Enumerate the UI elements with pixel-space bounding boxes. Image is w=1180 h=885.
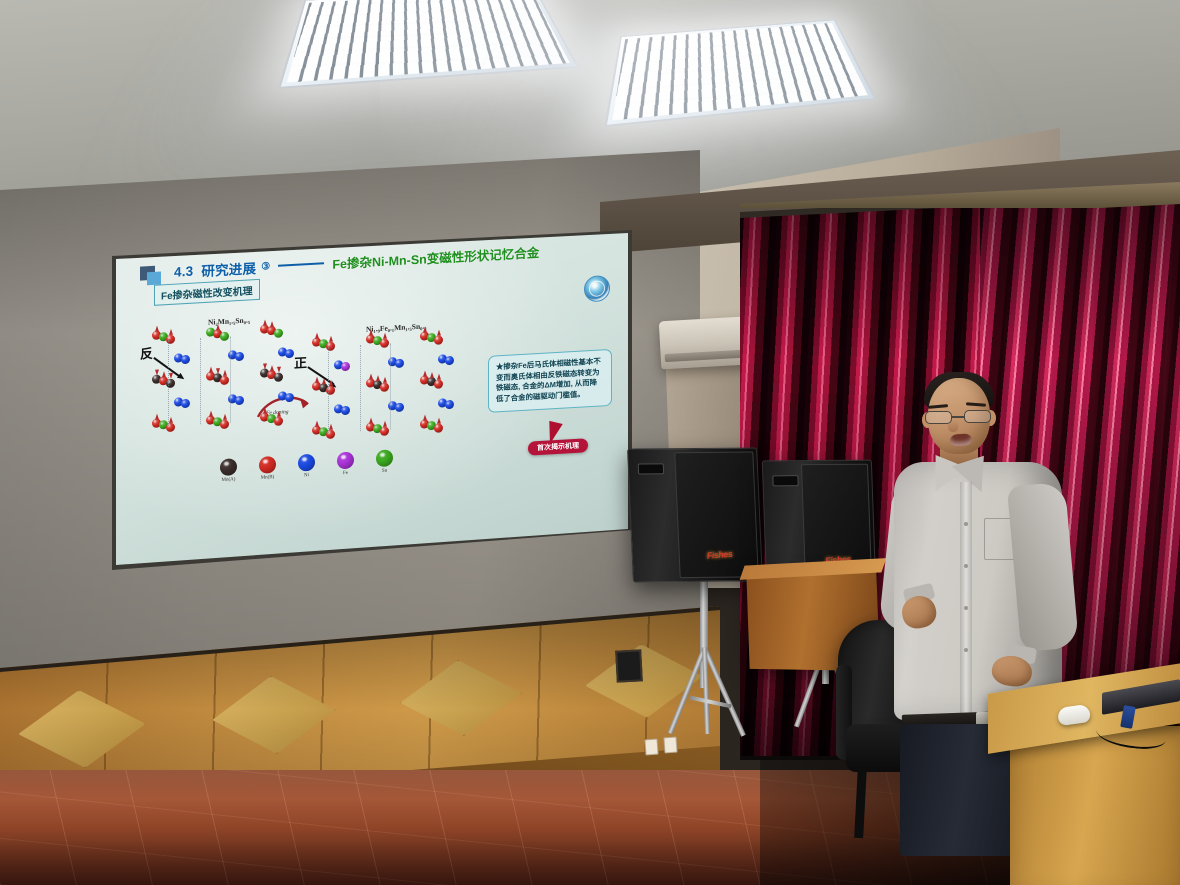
projection-screen[interactable]: 4.3 研究进展 ③ Fe掺杂Ni-Mn-Sn变磁性形状记忆合金 Fe掺杂磁性改… (116, 233, 628, 565)
atom-sphere (434, 335, 443, 345)
spin-up-arrow-icon (383, 421, 387, 427)
antiferro-arrow-head (177, 373, 186, 382)
atom-sphere (220, 375, 229, 385)
lattice-guide-line (168, 340, 169, 426)
atom-sphere (434, 379, 443, 389)
spin-up-arrow-icon (423, 370, 427, 376)
spin-down-arrow-icon (216, 368, 220, 374)
legend-atom-label: Sn (382, 469, 387, 474)
legend-atom-label: Mn(B) (261, 475, 275, 481)
shirt-button (964, 606, 968, 610)
atom-sphere (434, 423, 443, 433)
atom-sphere (220, 419, 229, 429)
wall-outlet (644, 739, 658, 756)
slide-section-number: 4.3 (174, 263, 193, 279)
legend-atom-sphere (220, 458, 237, 476)
lattice-guide-line (328, 347, 329, 433)
spin-up-arrow-icon (369, 373, 373, 379)
spin-up-arrow-icon (315, 420, 319, 426)
spin-up-arrow-icon (209, 410, 213, 416)
legend-atom-sphere (376, 449, 393, 467)
formula-left: Ni₂Mn₁.₅Sn₀.₅ (208, 315, 250, 326)
slide-explanation-box: ★掺杂Fe后马氏体相磁性基本不变而奥氏体相由反铁磁态转变为铁磁态, 合金的ΔM增… (488, 349, 612, 413)
legend-item: Sn (376, 449, 393, 474)
atom-legend: Mn(A)Mn(B)NiFeSn (220, 449, 393, 483)
slide-section-title: 研究进展 (201, 257, 256, 280)
lattice-guide-line (230, 336, 231, 422)
presenter-glasses-icon (924, 410, 996, 424)
spin-up-arrow-icon (369, 417, 373, 423)
spin-up-arrow-icon (437, 330, 441, 336)
atom-sphere (380, 426, 389, 436)
formula-right: Ni₁.₉Fe₀.₁Mn₁.₅Sn₀.₅ (366, 321, 427, 333)
spin-up-arrow-icon (423, 414, 427, 420)
spin-up-arrow-icon (369, 329, 373, 335)
shirt-button (964, 522, 968, 526)
speaker-handle (772, 475, 798, 486)
atom-sphere (445, 400, 454, 410)
spin-up-arrow-icon (277, 411, 281, 417)
speaker-handle (638, 463, 664, 474)
title-divider (278, 262, 324, 267)
atom-sphere (341, 362, 350, 372)
atom-sphere (285, 349, 294, 359)
pa-speaker-left: Fishes (627, 447, 763, 582)
conference-room-photo: 4.3 研究进展 ③ Fe掺杂Ni-Mn-Sn变磁性形状记忆合金 Fe掺杂磁性改… (0, 0, 1180, 885)
legend-item: Fe (337, 451, 354, 476)
glasses-bridge (952, 416, 964, 418)
spin-up-arrow-icon (430, 372, 434, 378)
antiferro-label: 反 (140, 343, 153, 363)
atom-sphere (380, 382, 389, 392)
legend-item: Mn(B) (259, 456, 276, 481)
spin-up-arrow-icon (423, 326, 427, 332)
atom-sphere (274, 372, 283, 382)
spin-up-arrow-icon (155, 325, 159, 331)
title-square-icon (140, 266, 155, 281)
atom-sphere (181, 399, 190, 409)
spin-up-arrow-icon (270, 321, 274, 327)
legend-atom-label: Ni (304, 473, 309, 478)
atom-sphere (235, 396, 244, 406)
spin-up-arrow-icon (263, 407, 267, 413)
legend-item: Ni (298, 454, 315, 479)
lattice-guide-line (390, 343, 391, 429)
spin-up-arrow-icon (169, 329, 173, 335)
spin-up-arrow-icon (223, 414, 227, 420)
legend-atom-sphere (259, 456, 276, 474)
atom-sphere (395, 403, 404, 413)
spin-up-arrow-icon (383, 377, 387, 383)
slide-section-marker: ③ (261, 261, 270, 273)
legend-atom-sphere (337, 451, 354, 469)
spin-up-arrow-icon (270, 365, 274, 371)
spin-up-arrow-icon (376, 375, 380, 381)
legend-atom-sphere (298, 454, 315, 472)
atom-sphere (220, 331, 229, 341)
atom-sphere (380, 338, 389, 348)
spin-up-arrow-icon (216, 324, 220, 330)
spin-up-arrow-icon (315, 332, 319, 338)
presenter-shirt-placket (960, 482, 972, 718)
university-seal-icon (584, 275, 610, 302)
spin-up-arrow-icon (329, 336, 333, 342)
spin-up-arrow-icon (169, 417, 173, 423)
atom-sphere (274, 328, 283, 338)
glasses-lens (964, 410, 991, 423)
legend-atom-label: Fe (343, 471, 348, 476)
presentation-slide: 4.3 研究进展 ③ Fe掺杂Ni-Mn-Sn变磁性形状记忆合金 Fe掺杂磁性改… (116, 233, 628, 565)
spin-down-arrow-icon (155, 369, 159, 375)
legend-item: Mn(A) (220, 458, 237, 483)
atom-sphere (341, 406, 350, 416)
spin-down-arrow-icon (277, 367, 281, 373)
atom-sphere (235, 352, 244, 362)
spin-up-arrow-icon (329, 380, 333, 386)
slide-subtitle-box: Fe掺杂磁性改变机理 (154, 279, 260, 306)
spin-down-arrow-icon (263, 363, 267, 369)
ferro-label: 正 (294, 352, 307, 372)
atom-sphere (445, 356, 454, 366)
spin-up-arrow-icon (322, 378, 326, 384)
spin-up-arrow-icon (329, 424, 333, 430)
spin-down-arrow-icon (169, 373, 173, 379)
spin-up-arrow-icon (209, 366, 213, 372)
atom-sphere (395, 359, 404, 369)
wall-outlet (663, 737, 677, 754)
spin-up-arrow-icon (155, 413, 159, 419)
desk-body (1010, 726, 1180, 885)
spin-up-arrow-icon (383, 333, 387, 339)
spin-up-arrow-icon (437, 374, 441, 380)
shirt-button (964, 564, 968, 568)
atom-sphere (274, 416, 283, 426)
speaker-brand-logo: Fishes (707, 549, 734, 561)
spin-up-arrow-icon (162, 371, 166, 377)
presenter-nose (948, 420, 958, 432)
atom-sphere (181, 355, 190, 365)
lattice-guide-line (200, 338, 201, 424)
spin-up-arrow-icon (315, 376, 319, 382)
lattice-guide-line (360, 345, 361, 431)
legend-atom-label: Mn(A) (222, 477, 236, 483)
shirt-button (964, 648, 968, 652)
spin-up-arrow-icon (437, 418, 441, 424)
spin-up-arrow-icon (263, 319, 267, 325)
callout-badge: 首次揭示机理 (528, 438, 588, 455)
wall-picture-frame (615, 649, 643, 682)
spin-up-arrow-icon (223, 370, 227, 376)
